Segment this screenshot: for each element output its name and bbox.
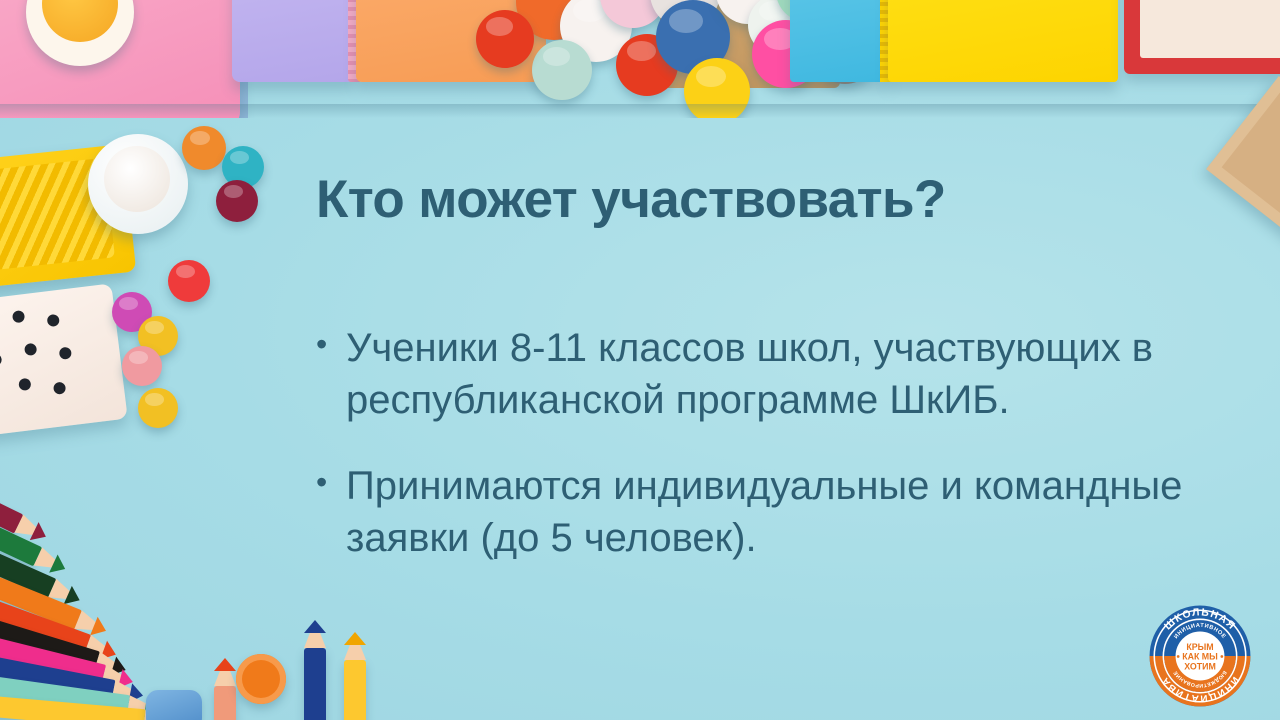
logo-center-line-3: ХОТИМ [1184,662,1216,672]
bullet-marker-icon: • [316,322,346,367]
pencil-standalone-salmon [214,686,236,720]
felt-orange [182,126,226,170]
logo-center-line-2: КАК МЫ [1182,652,1218,662]
slide-canvas: Кто может участвовать? • Ученики 8-11 кл… [0,0,1280,720]
bullet-list: • Ученики 8-11 классов школ, участвующих… [316,322,1246,598]
disc-red-2 [476,10,534,68]
list-item-text: Ученики 8-11 классов школ, участвующих в… [346,322,1246,426]
yellow-notebook [888,0,1118,82]
pencil-standalone-blue [304,648,326,720]
felt-red [168,260,210,302]
blue-eraser [146,690,202,720]
felt-maroon [216,180,258,222]
white-jar-lid [104,146,170,212]
cyan-notebook [790,0,890,82]
top-decoration-strip [0,0,1280,118]
list-item: • Принимаются индивидуальные и командные… [316,460,1246,564]
logo-dot-right [1220,655,1223,658]
purple-notebook [232,0,356,82]
pencil-maroon [0,405,23,533]
orange-cap [236,654,286,704]
pencil-standalone-yellow [344,660,366,720]
list-item: • Ученики 8-11 классов школ, участвующих… [316,322,1246,426]
shkolnaya-initsiativa-logo: ШКОЛЬНАЯ ИНИЦИАТИВА ИНИЦИАТИВНОЕ БЮДЖЕТИ… [1148,604,1252,708]
logo-center-line-1: КРЫМ [1186,642,1213,652]
felt-salmon [122,346,162,386]
page-title: Кто может участвовать? [316,172,1116,228]
bullet-marker-icon: • [316,460,346,505]
logo-dot-left [1177,655,1180,658]
disc-mint [532,40,592,100]
list-item-text: Принимаются индивидуальные и командные з… [346,460,1246,564]
cream-paper [1140,0,1280,58]
pencil-green [0,429,42,566]
